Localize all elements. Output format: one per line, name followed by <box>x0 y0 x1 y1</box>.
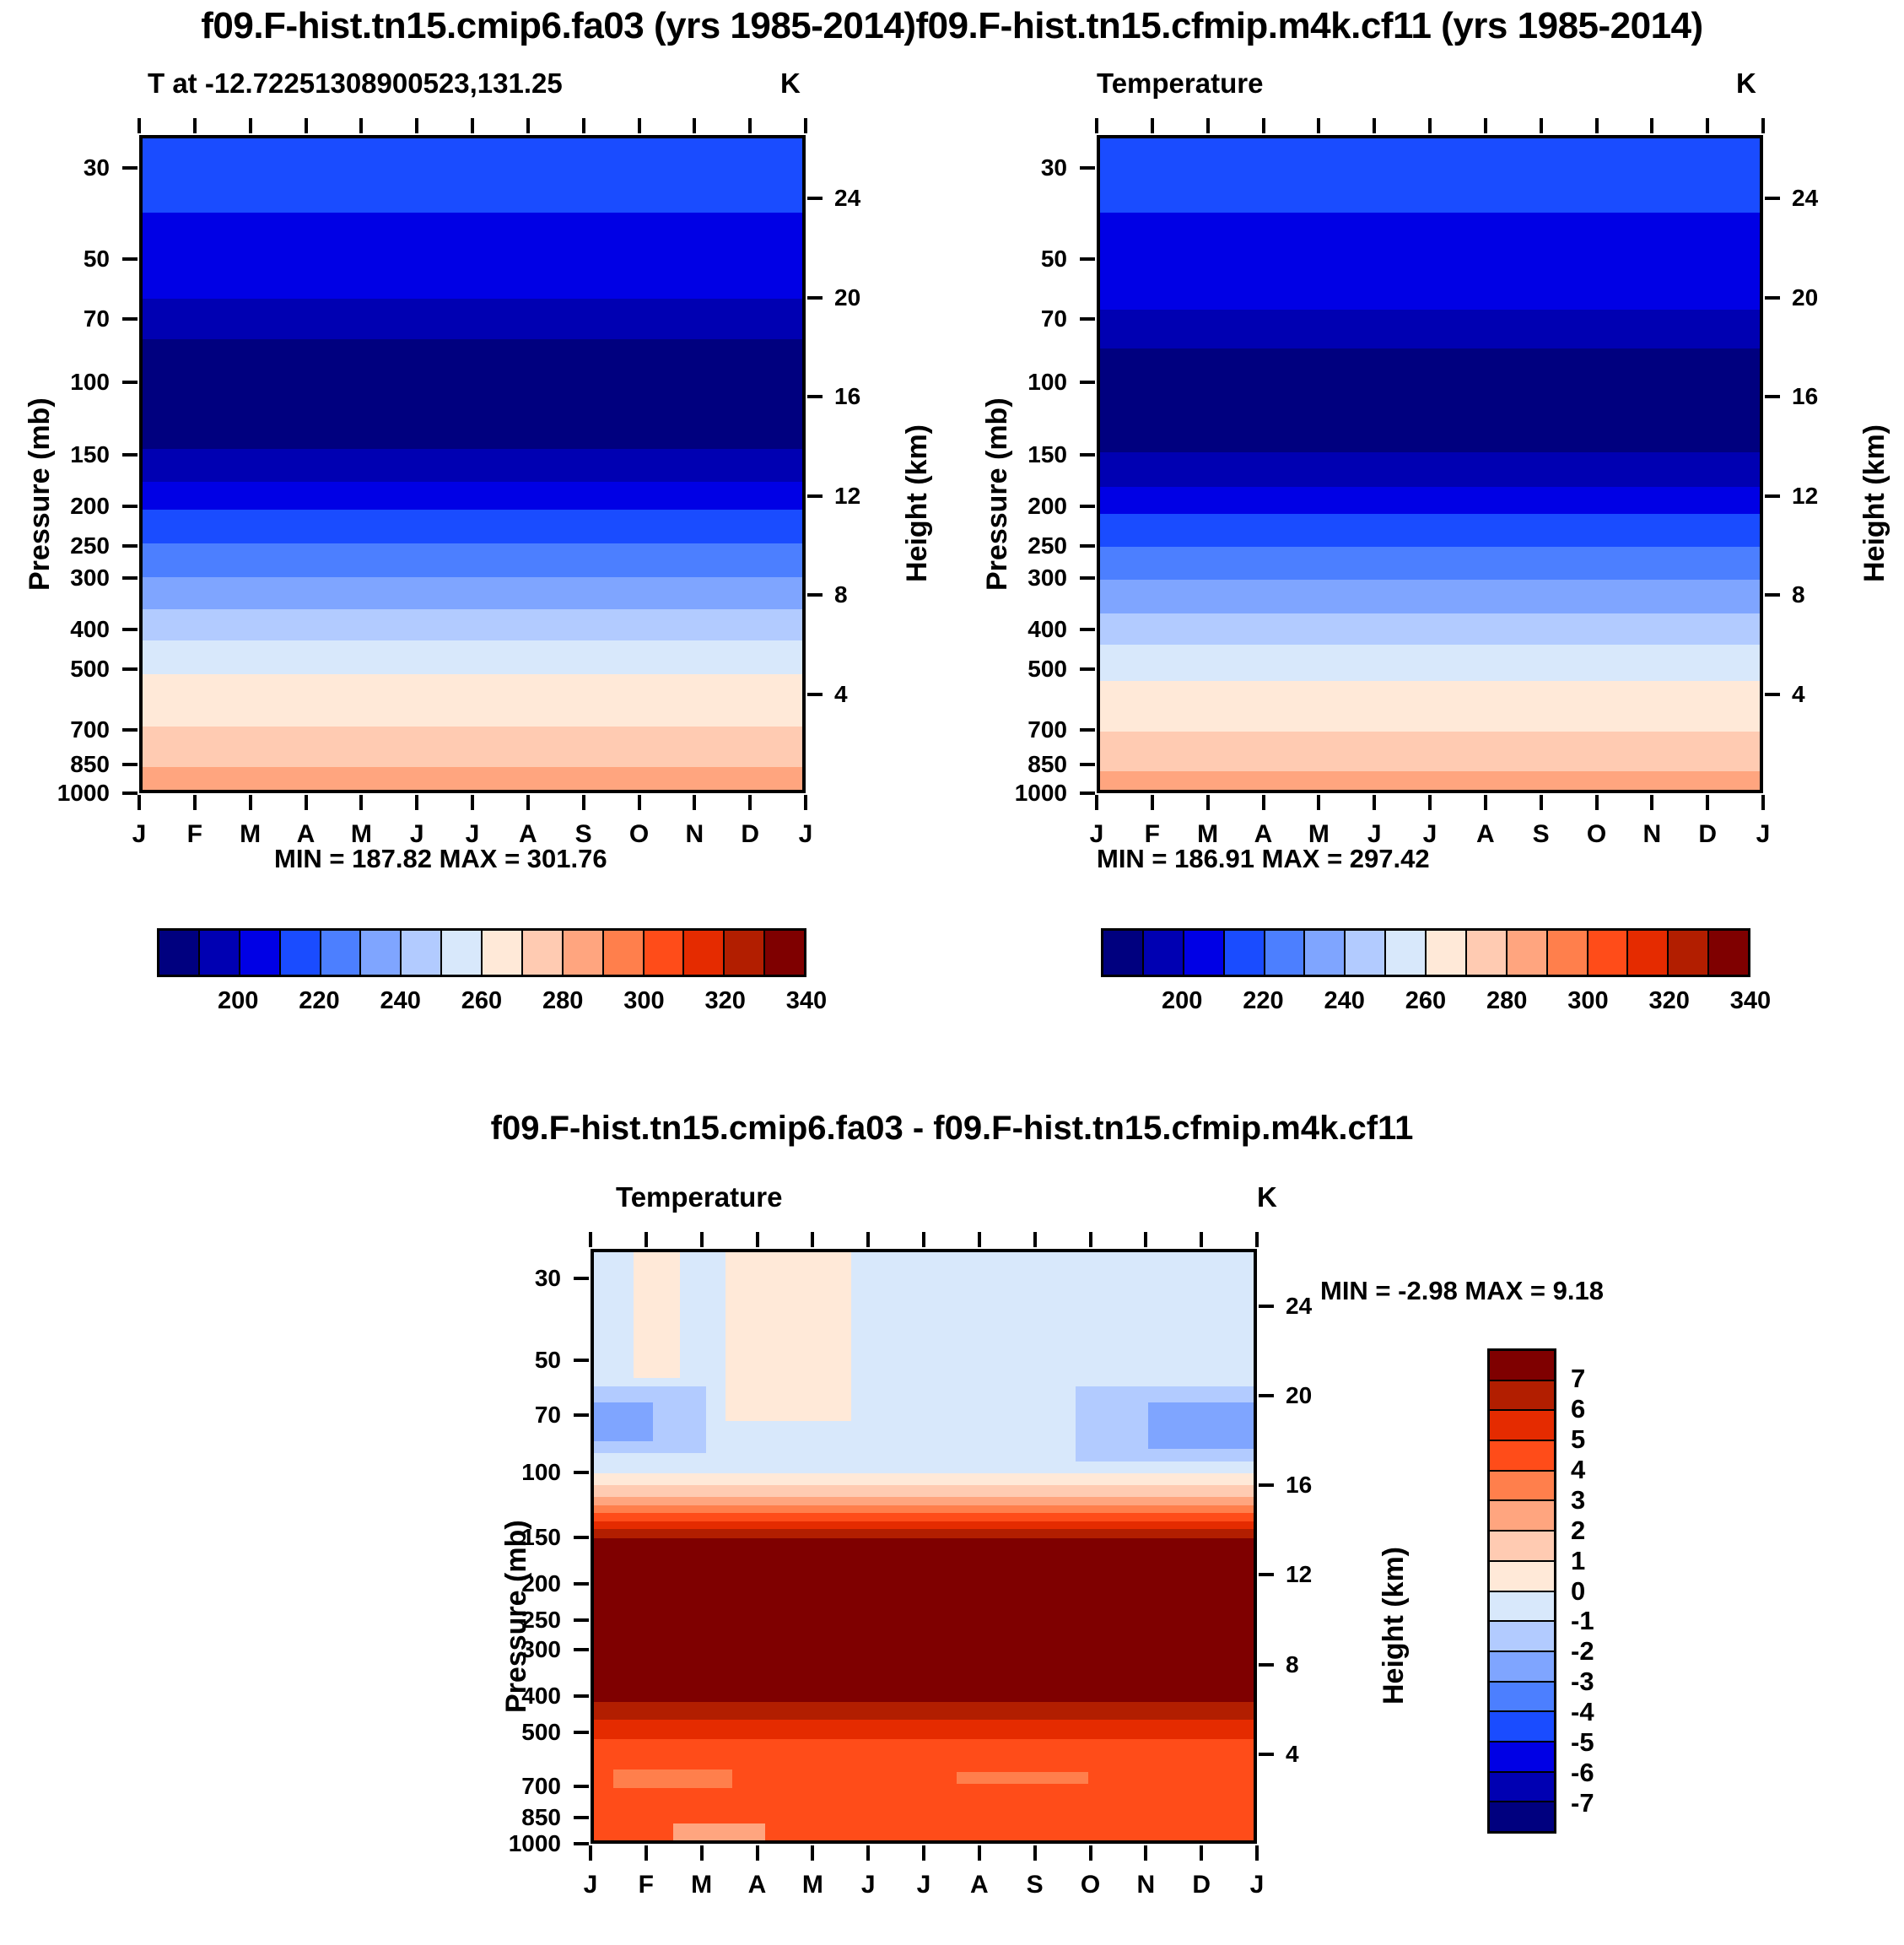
pressure-tick <box>574 1731 589 1734</box>
height-tick-label: 4 <box>834 681 848 708</box>
month-label: M <box>234 820 267 849</box>
difference-colorbar[interactable] <box>1487 1348 1556 1834</box>
right-panel-unit-label: K <box>1736 68 1756 100</box>
contour-band <box>594 1402 653 1442</box>
month-tick-top <box>922 1232 925 1247</box>
height-tick-label: 16 <box>1286 1472 1312 1499</box>
colorbar-tick-label: 4 <box>1571 1455 1585 1485</box>
colorbar-tick-label: -3 <box>1571 1667 1594 1697</box>
colorbar-swatch <box>1490 1472 1554 1502</box>
colorbar-tick-label: 220 <box>286 987 353 1015</box>
month-tick-bottom <box>693 795 696 810</box>
contour-band <box>594 1538 1254 1703</box>
colorbar-swatch <box>1508 931 1548 975</box>
month-tick-bottom <box>1373 795 1376 810</box>
colorbar-swatch <box>564 931 604 975</box>
month-tick-top <box>1706 118 1709 133</box>
height-tick-label: 24 <box>1792 185 1818 212</box>
month-tick-top <box>1650 118 1653 133</box>
pressure-tick <box>1080 317 1095 321</box>
pressure-tick-label: 200 <box>0 493 110 520</box>
month-label: O <box>1074 1871 1108 1899</box>
month-tick-top <box>1428 118 1432 133</box>
height-tick-label: 4 <box>1792 681 1805 708</box>
colorbar-tick-label: 280 <box>1473 987 1540 1015</box>
month-label: S <box>1018 1871 1052 1899</box>
colorbar-tick-label: 300 <box>611 987 678 1015</box>
colorbar-tick-label: 300 <box>1555 987 1622 1015</box>
colorbar-tick-label: -4 <box>1571 1697 1594 1727</box>
pressure-tick <box>1080 576 1095 580</box>
pressure-tick-label: 70 <box>0 305 110 332</box>
colorbar-swatch <box>1490 1773 1554 1803</box>
pressure-tick <box>122 505 138 508</box>
right-panel-subtitle: Temperature <box>1097 68 1263 100</box>
contour-band <box>594 1702 1254 1720</box>
height-tick-label: 12 <box>834 483 860 510</box>
month-tick-top <box>249 118 252 133</box>
colorbar-swatch <box>1490 1652 1554 1683</box>
pressure-tick <box>1080 544 1095 548</box>
colorbar-swatch <box>1386 931 1427 975</box>
difference-panel-unit-label: K <box>1257 1181 1277 1213</box>
month-label: D <box>1691 820 1724 849</box>
height-tick <box>1765 693 1780 696</box>
right-height-axis-title: Height (km) <box>1858 424 1891 582</box>
colorbar-tick-label: -2 <box>1571 1636 1594 1667</box>
colorbar-swatch <box>1588 931 1629 975</box>
colorbar-swatch <box>483 931 523 975</box>
colorbar-tick-label: 0 <box>1571 1576 1585 1607</box>
month-label: F <box>178 820 212 849</box>
height-tick <box>807 693 823 696</box>
colorbar-swatch <box>1490 1501 1554 1532</box>
height-tick <box>807 296 823 300</box>
month-tick-bottom <box>811 1845 814 1861</box>
month-tick-bottom <box>1151 795 1154 810</box>
colorbar-swatch <box>1184 931 1225 975</box>
contour-band <box>1100 487 1760 514</box>
month-tick-bottom <box>589 1845 592 1861</box>
month-label: O <box>1580 820 1614 849</box>
month-tick-bottom <box>1650 795 1653 810</box>
month-tick-top <box>1151 118 1154 133</box>
month-tick-bottom <box>638 795 641 810</box>
pressure-tick-label: 50 <box>0 246 110 273</box>
month-label: M <box>796 1871 829 1899</box>
month-tick-top <box>748 118 752 133</box>
contour-band <box>143 609 802 640</box>
left-temperature-colorbar[interactable] <box>157 928 806 977</box>
colorbar-swatch <box>1490 1712 1554 1742</box>
height-tick-label: 12 <box>1286 1561 1312 1588</box>
month-tick-top <box>1761 118 1765 133</box>
colorbar-swatch <box>240 931 281 975</box>
colorbar-tick-label: 200 <box>204 987 272 1015</box>
pressure-tick <box>574 1618 589 1622</box>
contour-band <box>1100 580 1760 613</box>
contour-band <box>143 299 802 339</box>
contour-band <box>143 577 802 609</box>
pressure-tick-label: 50 <box>439 1347 561 1374</box>
pressure-tick <box>122 628 138 631</box>
colorbar-swatch <box>1709 931 1748 975</box>
contour-band <box>143 767 802 790</box>
difference-height-axis-title: Height (km) <box>1378 1547 1410 1705</box>
month-tick-top <box>1540 118 1543 133</box>
height-tick-label: 8 <box>1286 1651 1299 1678</box>
pressure-tick <box>122 381 138 384</box>
month-label: J <box>851 1871 885 1899</box>
height-tick-label: 24 <box>1286 1293 1312 1320</box>
pressure-tick-label: 100 <box>945 369 1067 396</box>
colorbar-swatch <box>402 931 442 975</box>
colorbar-tick-label: 260 <box>448 987 515 1015</box>
month-label: N <box>1635 820 1669 849</box>
height-tick <box>1259 1663 1274 1667</box>
month-tick-top <box>645 1232 648 1247</box>
month-tick-bottom <box>1206 795 1210 810</box>
height-tick <box>807 197 823 200</box>
month-tick-top <box>471 118 474 133</box>
pressure-tick-label: 700 <box>439 1773 561 1800</box>
pressure-tick <box>1080 628 1095 631</box>
colorbar-swatch <box>321 931 362 975</box>
month-tick-bottom <box>1317 795 1320 810</box>
colorbar-tick-label: 240 <box>367 987 434 1015</box>
difference-panel-minmax: MIN = -2.98 MAX = 9.18 <box>1320 1276 1604 1306</box>
pressure-tick-label: 250 <box>945 532 1067 559</box>
height-tick <box>1259 1305 1274 1308</box>
month-label: S <box>1524 820 1558 849</box>
colorbar-swatch <box>281 931 321 975</box>
height-tick <box>1765 197 1780 200</box>
colorbar-tick-label: 220 <box>1230 987 1297 1015</box>
pressure-tick <box>122 576 138 580</box>
pressure-tick-label: 200 <box>945 493 1067 520</box>
month-tick-top <box>811 1232 814 1247</box>
pressure-tick-label: 30 <box>439 1265 561 1292</box>
pressure-tick-label: 850 <box>439 1804 561 1831</box>
month-tick-top <box>978 1232 981 1247</box>
pressure-tick-label: 850 <box>0 751 110 778</box>
month-tick-bottom <box>748 795 752 810</box>
colorbar-swatch <box>361 931 402 975</box>
month-tick-top <box>1095 118 1098 133</box>
contour-band <box>1100 771 1760 790</box>
pressure-tick-label: 1000 <box>439 1830 561 1857</box>
month-tick-bottom <box>1706 795 1709 810</box>
month-tick-bottom <box>1262 795 1265 810</box>
contour-band <box>143 640 802 674</box>
difference-panel-title: f09.F-hist.tn15.cmip6.fa03 - f09.F-hist.… <box>0 1110 1904 1148</box>
height-tick-label: 4 <box>1286 1741 1299 1768</box>
colorbar-swatch <box>604 931 645 975</box>
colorbar-swatch <box>684 931 725 975</box>
contour-band <box>1100 613 1760 645</box>
pressure-tick-label: 70 <box>945 305 1067 332</box>
left-height-axis-title: Height (km) <box>901 424 934 582</box>
month-label: N <box>1129 1871 1162 1899</box>
pressure-tick <box>122 763 138 766</box>
month-tick-bottom <box>1595 795 1599 810</box>
pressure-tick-label: 700 <box>945 716 1067 743</box>
month-tick-bottom <box>1761 795 1765 810</box>
pressure-tick <box>574 1359 589 1362</box>
month-tick-top <box>526 118 530 133</box>
pressure-tick <box>574 1413 589 1417</box>
contour-band <box>143 482 802 510</box>
right-panel-minmax: MIN = 186.91 MAX = 297.42 <box>1097 844 1430 874</box>
month-tick-top <box>1200 1232 1203 1247</box>
month-tick-top <box>359 118 363 133</box>
pressure-tick-label: 500 <box>0 656 110 683</box>
month-tick-top <box>589 1232 592 1247</box>
month-tick-bottom <box>804 795 807 810</box>
month-tick-top <box>193 118 197 133</box>
colorbar-tick-label: -7 <box>1571 1788 1594 1818</box>
month-label: N <box>677 820 711 849</box>
colorbar-tick-label: 340 <box>773 987 840 1015</box>
colorbar-tick-label: 320 <box>1636 987 1703 1015</box>
pressure-tick-label: 50 <box>945 246 1067 273</box>
left-panel-subtitle: T at -12.72251308900523,131.25 <box>148 68 563 100</box>
height-tick-label: 8 <box>834 581 848 608</box>
pressure-tick-label: 30 <box>0 154 110 181</box>
colorbar-swatch <box>1628 931 1669 975</box>
month-tick-bottom <box>1200 1845 1203 1861</box>
left-panel-unit-label: K <box>780 68 801 100</box>
pressure-tick <box>122 544 138 548</box>
month-label: O <box>623 820 656 849</box>
height-tick-label: 20 <box>1792 284 1818 311</box>
colorbar-swatch <box>1669 931 1709 975</box>
month-label: A <box>963 1871 996 1899</box>
month-tick-top <box>693 118 696 133</box>
pressure-tick-label: 150 <box>0 441 110 468</box>
month-label: J <box>907 1871 941 1899</box>
month-tick-top <box>1206 118 1210 133</box>
pressure-tick <box>574 1471 589 1474</box>
pressure-tick-label: 400 <box>0 616 110 643</box>
contour-band <box>673 1823 765 1840</box>
month-tick-top <box>1373 118 1376 133</box>
month-label: J <box>1746 820 1780 849</box>
month-label: A <box>741 1871 774 1899</box>
difference-panel-subtitle: Temperature <box>616 1181 782 1213</box>
pressure-tick-label: 30 <box>945 154 1067 181</box>
height-tick <box>1259 1483 1274 1487</box>
month-tick-bottom <box>526 795 530 810</box>
pressure-tick <box>1080 763 1095 766</box>
pressure-tick <box>1080 505 1095 508</box>
pressure-tick-label: 250 <box>439 1607 561 1634</box>
pressure-tick <box>122 166 138 170</box>
height-tick-label: 24 <box>834 185 860 212</box>
contour-band <box>1100 547 1760 581</box>
month-tick-bottom <box>193 795 197 810</box>
height-tick <box>1765 296 1780 300</box>
colorbar-swatch <box>1103 931 1144 975</box>
month-tick-top <box>866 1232 870 1247</box>
pressure-tick <box>574 1648 589 1651</box>
month-tick-bottom <box>471 795 474 810</box>
month-tick-bottom <box>249 795 252 810</box>
colorbar-tick-label: 1 <box>1571 1546 1585 1576</box>
colorbar-tick-label: 5 <box>1571 1424 1585 1455</box>
colorbar-swatch <box>1490 1411 1554 1441</box>
month-tick-bottom <box>415 795 418 810</box>
pressure-tick-label: 250 <box>0 532 110 559</box>
pressure-tick-label: 500 <box>439 1719 561 1746</box>
height-tick-label: 16 <box>834 383 860 410</box>
month-label: A <box>1469 820 1502 849</box>
colorbar-swatch <box>159 931 200 975</box>
pressure-tick <box>574 1277 589 1280</box>
month-label: F <box>629 1871 663 1899</box>
month-tick-bottom <box>1484 795 1487 810</box>
height-tick <box>1259 1573 1274 1576</box>
pressure-tick-label: 100 <box>0 369 110 396</box>
colorbar-tick-label: 3 <box>1571 1485 1585 1515</box>
contour-band <box>1100 310 1760 348</box>
contour-band <box>1100 452 1760 487</box>
colorbar-swatch <box>765 931 804 975</box>
colorbar-swatch <box>1427 931 1467 975</box>
pressure-tick-label: 500 <box>945 656 1067 683</box>
difference-contour-plot[interactable] <box>591 1249 1257 1844</box>
month-label: J <box>789 820 823 849</box>
month-tick-bottom <box>1255 1845 1259 1861</box>
month-label: J <box>574 1871 607 1899</box>
month-tick-top <box>1317 118 1320 133</box>
pressure-tick <box>1080 381 1095 384</box>
colorbar-swatch <box>1225 931 1265 975</box>
colorbar-tick-label: 6 <box>1571 1394 1585 1424</box>
contour-band <box>594 1720 1254 1739</box>
contour-band <box>957 1772 1088 1784</box>
colorbar-tick-label: 2 <box>1571 1515 1585 1546</box>
colorbar-swatch <box>1490 1562 1554 1592</box>
month-tick-bottom <box>866 1845 870 1861</box>
left-panel-minmax: MIN = 187.82 MAX = 301.76 <box>274 844 607 874</box>
pressure-tick <box>1080 667 1095 671</box>
month-tick-bottom <box>1428 795 1432 810</box>
month-tick-top <box>1595 118 1599 133</box>
pressure-tick-label: 100 <box>439 1459 561 1486</box>
colorbar-swatch <box>200 931 240 975</box>
colorbar-tick-label: 240 <box>1311 987 1378 1015</box>
height-tick <box>807 494 823 498</box>
height-tick-label: 16 <box>1792 383 1818 410</box>
pressure-tick <box>1080 728 1095 732</box>
right-temperature-colorbar[interactable] <box>1101 928 1750 977</box>
month-tick-top <box>1255 1232 1259 1247</box>
month-tick-bottom <box>700 1845 704 1861</box>
pressure-tick <box>122 317 138 321</box>
month-tick-bottom <box>305 795 308 810</box>
height-tick <box>1765 593 1780 597</box>
contour-band <box>143 213 802 299</box>
contour-band <box>143 510 802 543</box>
colorbar-swatch <box>1490 1441 1554 1472</box>
month-tick-top <box>1089 1232 1092 1247</box>
pressure-tick-label: 150 <box>945 441 1067 468</box>
pressure-tick-label: 850 <box>945 751 1067 778</box>
colorbar-swatch <box>725 931 765 975</box>
contour-band <box>725 1252 851 1421</box>
month-tick-bottom <box>359 795 363 810</box>
month-tick-top <box>1484 118 1487 133</box>
month-tick-top <box>415 118 418 133</box>
pressure-tick <box>122 728 138 732</box>
right-temperature-contour-plot[interactable] <box>1097 135 1763 793</box>
contour-band <box>1100 645 1760 681</box>
height-tick <box>807 395 823 398</box>
pressure-tick-label: 700 <box>0 716 110 743</box>
colorbar-swatch <box>1144 931 1184 975</box>
month-tick-bottom <box>1540 795 1543 810</box>
contour-band <box>143 543 802 577</box>
contour-band <box>1100 514 1760 546</box>
pressure-tick <box>574 1816 589 1819</box>
colorbar-tick-label: 260 <box>1392 987 1459 1015</box>
pressure-tick <box>574 1536 589 1539</box>
contour-band <box>1100 732 1760 771</box>
colorbar-swatch <box>1467 931 1508 975</box>
pressure-tick <box>1080 257 1095 261</box>
month-label: M <box>685 1871 719 1899</box>
pressure-tick-label: 200 <box>439 1570 561 1597</box>
month-tick-top <box>138 118 141 133</box>
colorbar-swatch <box>523 931 564 975</box>
pressure-tick-label: 300 <box>439 1636 561 1663</box>
colorbar-tick-label: -5 <box>1571 1727 1594 1758</box>
month-tick-bottom <box>645 1845 648 1861</box>
height-tick-label: 12 <box>1792 483 1818 510</box>
month-label: D <box>733 820 767 849</box>
contour-band <box>143 674 802 727</box>
colorbar-swatch <box>1305 931 1346 975</box>
colorbar-tick-label: -6 <box>1571 1758 1594 1788</box>
colorbar-swatch <box>442 931 483 975</box>
pressure-tick <box>574 1694 589 1698</box>
month-tick-top <box>1033 1232 1037 1247</box>
colorbar-tick-label: 340 <box>1717 987 1784 1015</box>
month-tick-top <box>305 118 308 133</box>
pressure-tick <box>1080 792 1095 795</box>
left-temperature-contour-plot[interactable] <box>139 135 806 793</box>
contour-band <box>1100 348 1760 453</box>
pressure-tick-label: 1000 <box>0 780 110 807</box>
colorbar-tick-label: 280 <box>529 987 596 1015</box>
pressure-tick <box>574 1785 589 1788</box>
pressure-tick <box>122 453 138 457</box>
height-tick <box>807 593 823 597</box>
height-tick <box>1259 1753 1274 1756</box>
colorbar-swatch <box>1490 1742 1554 1773</box>
pressure-tick <box>122 792 138 795</box>
colorbar-swatch <box>1490 1622 1554 1652</box>
pressure-tick-label: 400 <box>439 1683 561 1710</box>
month-tick-top <box>756 1232 759 1247</box>
contour-band <box>1100 138 1760 213</box>
height-tick-label: 20 <box>1286 1382 1312 1409</box>
pressure-tick <box>1080 453 1095 457</box>
colorbar-tick-label: 320 <box>692 987 759 1015</box>
pressure-tick-label: 150 <box>439 1524 561 1551</box>
pressure-tick-label: 70 <box>439 1402 561 1429</box>
